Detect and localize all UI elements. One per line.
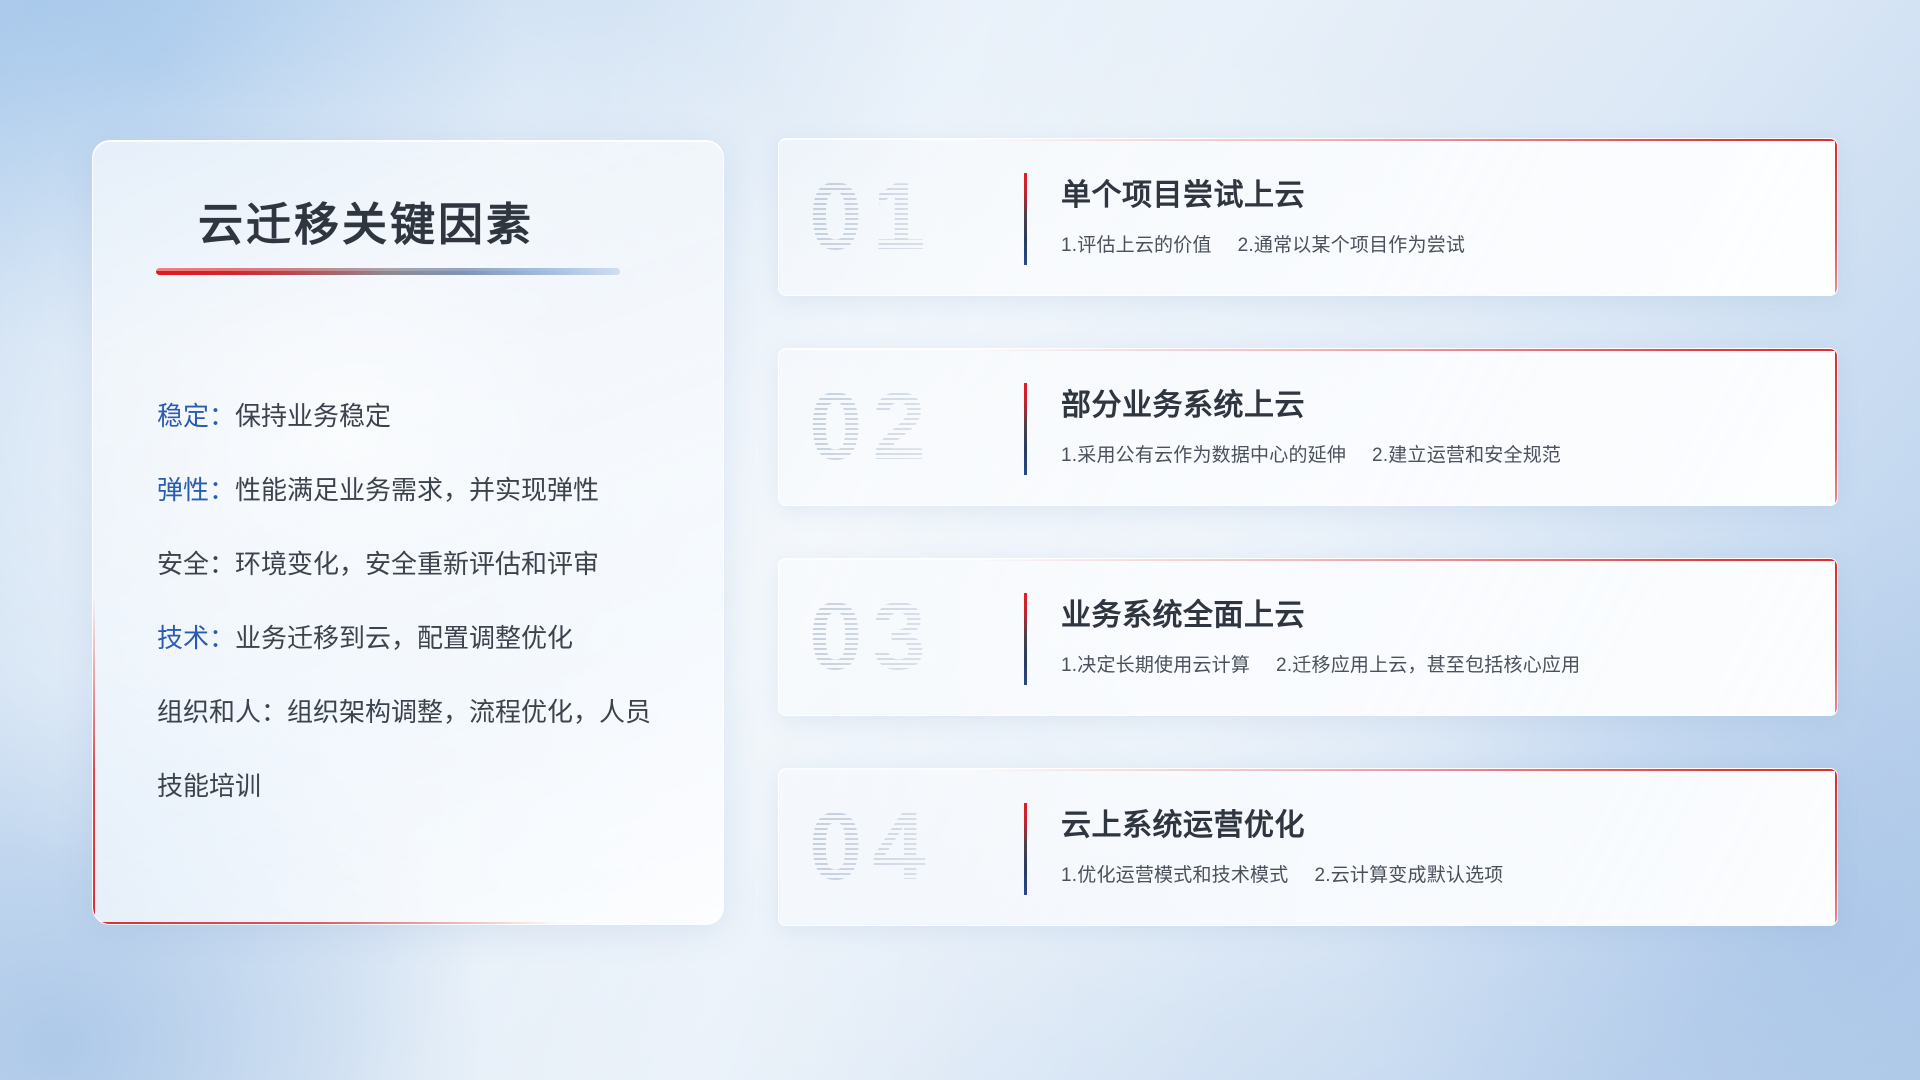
step-desc-part-1: 1.评估上云的价值 <box>1061 235 1212 256</box>
factor-row: 稳定：保持业务稳定 <box>157 379 677 453</box>
card-top-accent <box>779 139 1837 141</box>
card-top-accent <box>779 769 1837 771</box>
step-title: 单个项目尝试上云 <box>1061 170 1813 214</box>
step-card-03[interactable]: 03 业务系统全面上云 1.决定长期使用云计算2.迁移应用上云，甚至包括核心应用 <box>778 558 1838 716</box>
panel-bottom-accent-bar <box>93 922 559 924</box>
step-number-watermark: 04 <box>809 788 1039 906</box>
factor-text: 性能满足业务需求，并实现弹性 <box>235 475 599 505</box>
step-desc-part-1: 1.优化运营模式和技术模式 <box>1061 865 1288 886</box>
factor-list: 稳定：保持业务稳定 弹性：性能满足业务需求，并实现弹性 安全：环境变化，安全重新… <box>157 379 677 823</box>
card-right-accent <box>1835 559 1837 715</box>
step-number-watermark: 01 <box>809 158 1039 276</box>
factor-label: 组织和人： <box>157 697 287 727</box>
step-number-watermark: 02 <box>809 368 1039 486</box>
card-body: 云上系统运营优化 1.优化运营模式和技术模式2.云计算变成默认选项 <box>1061 800 1813 887</box>
card-divider-bar <box>1024 593 1027 685</box>
step-description: 1.优化运营模式和技术模式2.云计算变成默认选项 <box>1061 860 1813 887</box>
factor-row: 安全：环境变化，安全重新评估和评审 <box>157 527 677 601</box>
panel-left-accent-bar <box>93 595 95 924</box>
card-body: 部分业务系统上云 1.采用公有云作为数据中心的延伸2.建立运营和安全规范 <box>1061 380 1813 467</box>
card-divider-bar <box>1024 383 1027 475</box>
factor-label: 弹性： <box>157 475 235 505</box>
factor-row: 组织和人：组织架构调整，流程优化，人员技能培训 <box>157 675 677 823</box>
card-divider-bar <box>1024 803 1027 895</box>
migration-steps-list: 01 单个项目尝试上云 1.评估上云的价值2.通常以某个项目作为尝试 02 部分… <box>778 138 1838 926</box>
factor-label: 稳定： <box>157 401 235 431</box>
step-title: 云上系统运营优化 <box>1061 800 1813 844</box>
card-body: 业务系统全面上云 1.决定长期使用云计算2.迁移应用上云，甚至包括核心应用 <box>1061 590 1813 677</box>
title-gradient-underline <box>156 268 620 275</box>
card-top-accent <box>779 349 1837 351</box>
factor-label: 安全： <box>157 549 235 579</box>
factor-row: 技术：业务迁移到云，配置调整优化 <box>157 601 677 675</box>
card-right-accent <box>1835 769 1837 925</box>
step-desc-part-2: 2.迁移应用上云，甚至包括核心应用 <box>1276 655 1580 676</box>
step-description: 1.采用公有云作为数据中心的延伸2.建立运营和安全规范 <box>1061 440 1813 467</box>
step-desc-part-1: 1.采用公有云作为数据中心的延伸 <box>1061 445 1346 466</box>
step-number-watermark: 03 <box>809 578 1039 696</box>
step-card-02[interactable]: 02 部分业务系统上云 1.采用公有云作为数据中心的延伸2.建立运营和安全规范 <box>778 348 1838 506</box>
step-card-04[interactable]: 04 云上系统运营优化 1.优化运营模式和技术模式2.云计算变成默认选项 <box>778 768 1838 926</box>
panel-title: 云迁移关键因素 <box>198 188 534 253</box>
slide-stage: 云迁移关键因素 稳定：保持业务稳定 弹性：性能满足业务需求，并实现弹性 安全：环… <box>0 0 1920 1080</box>
step-description: 1.评估上云的价值2.通常以某个项目作为尝试 <box>1061 230 1813 257</box>
step-card-01[interactable]: 01 单个项目尝试上云 1.评估上云的价值2.通常以某个项目作为尝试 <box>778 138 1838 296</box>
step-desc-part-2: 2.通常以某个项目作为尝试 <box>1238 235 1465 256</box>
step-desc-part-2: 2.云计算变成默认选项 <box>1314 865 1503 886</box>
factor-label: 技术： <box>157 623 235 653</box>
factor-text: 保持业务稳定 <box>235 401 391 431</box>
card-divider-bar <box>1024 173 1027 265</box>
card-right-accent <box>1835 139 1837 295</box>
key-factors-panel: 云迁移关键因素 稳定：保持业务稳定 弹性：性能满足业务需求，并实现弹性 安全：环… <box>92 140 724 925</box>
factor-text: 环境变化，安全重新评估和评审 <box>235 549 599 579</box>
step-description: 1.决定长期使用云计算2.迁移应用上云，甚至包括核心应用 <box>1061 650 1813 677</box>
factor-text: 业务迁移到云，配置调整优化 <box>235 623 573 653</box>
factor-row: 弹性：性能满足业务需求，并实现弹性 <box>157 453 677 527</box>
card-right-accent <box>1835 349 1837 505</box>
step-title: 业务系统全面上云 <box>1061 590 1813 634</box>
step-desc-part-2: 2.建立运营和安全规范 <box>1372 445 1561 466</box>
step-desc-part-1: 1.决定长期使用云计算 <box>1061 655 1250 676</box>
card-top-accent <box>779 559 1837 561</box>
step-title: 部分业务系统上云 <box>1061 380 1813 424</box>
card-body: 单个项目尝试上云 1.评估上云的价值2.通常以某个项目作为尝试 <box>1061 170 1813 257</box>
